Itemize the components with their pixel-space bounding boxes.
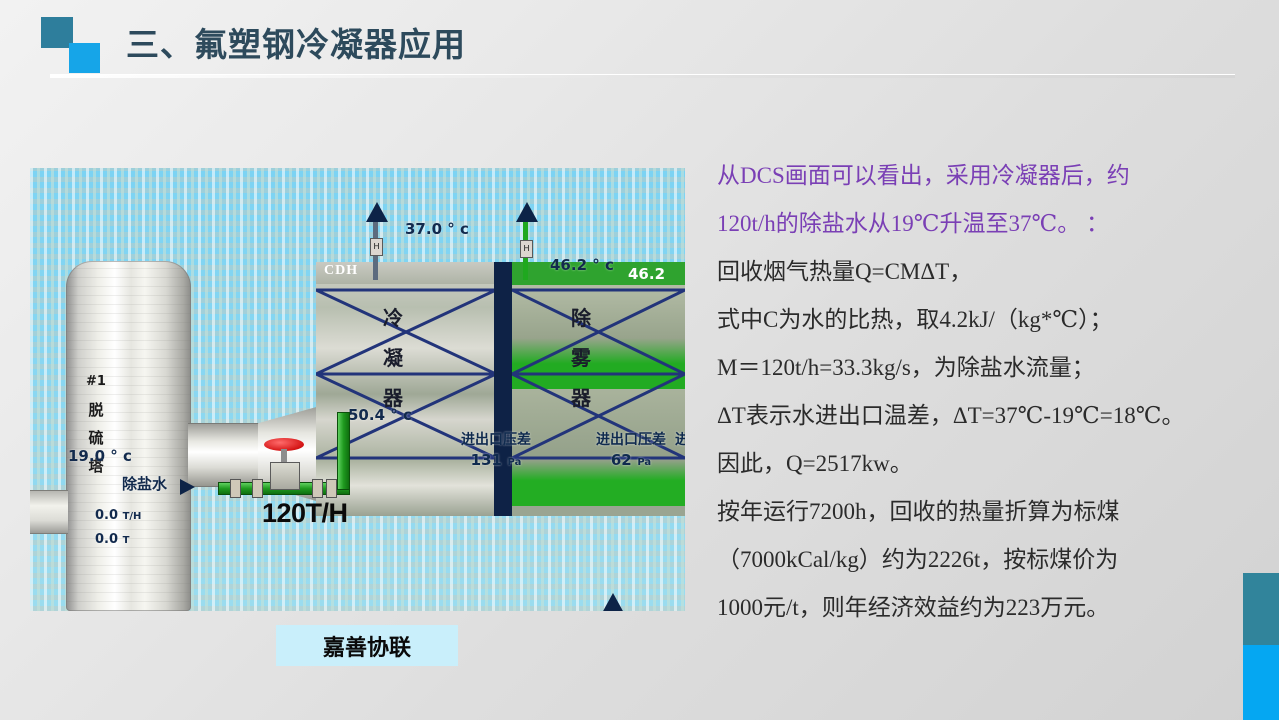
pressure-label-1: 进出口压差 131 Pa	[461, 432, 531, 470]
pressure-1-value: 131	[471, 451, 502, 469]
pressure-2-unit: Pa	[637, 457, 651, 468]
demister-gauge-icon: H	[520, 240, 533, 258]
pipe-flange-right	[326, 479, 337, 498]
tower-name-char-1: 脱	[76, 396, 116, 424]
feed-water-pipe-vertical	[337, 412, 350, 490]
page-title: 三、氟塑钢冷凝器应用	[126, 18, 466, 66]
demister-section: 除 雾 器	[512, 262, 685, 516]
body-text-line-4: 式中C为水的比热，取4.2kJ/（kg*℃）；	[717, 299, 1227, 340]
pressure-1-unit: Pa	[508, 457, 522, 468]
pressure-label-2: 进出口压差 62 Pa	[596, 432, 666, 470]
feed-water-label: 除盐水	[122, 473, 167, 494]
bottom-flow-arrow-icon	[602, 593, 624, 611]
condenser-label-char-1: 冷	[376, 298, 410, 338]
water-flow-value: 0.0	[95, 508, 118, 523]
reading-demister-outlet-temp: 46.2 ° c	[550, 256, 614, 274]
reading-demister-band-temp: 46.2	[628, 265, 665, 283]
reading-flue-inlet-temp: 50.4 ° c	[348, 406, 412, 424]
feed-water-arrow-icon	[180, 479, 195, 495]
slide-header: 三、氟塑钢冷凝器应用	[0, 0, 1279, 88]
right-accent-bar	[1243, 573, 1279, 720]
body-text-line-6: ΔT表示水进出口温差，ΔT=37℃-19℃=18℃。	[717, 395, 1227, 436]
pressure-1-title: 进出口压差	[461, 432, 531, 450]
pressure-2-reading: 62 Pa	[596, 450, 666, 470]
caption-text: 嘉善协联	[323, 630, 411, 662]
demister-label-char-3: 器	[564, 378, 598, 418]
condenser-gauge-icon: H	[370, 238, 383, 256]
tower-side-duct	[30, 490, 68, 534]
body-text-line-3: 回收烟气热量Q=CMΔT，	[717, 251, 1227, 292]
body-text-line-9: （7000kCal/kg）约为2226t，按标煤价为	[717, 539, 1227, 580]
design-flow-annotation: 120T/H	[262, 498, 348, 529]
demister-label-char-2: 雾	[564, 338, 598, 378]
reading-water-total: 0.0 T	[95, 532, 129, 547]
control-valve-icon	[262, 438, 306, 488]
pressure-3-title: 进	[675, 432, 685, 450]
accent-bar-bottom	[1243, 645, 1279, 720]
condenser-demister-assembly: CDH 冷 凝 器	[316, 262, 685, 516]
body-text-line-5: M＝120t/h=33.3kg/s，为除盐水流量；	[717, 347, 1227, 388]
dcs-screenshot-image: #1 脱 硫 塔 CDH 冷	[30, 168, 685, 611]
body-text-line-10: 1000元/t，则年经济效益约为223万元。	[717, 587, 1227, 628]
valve-body-icon	[270, 462, 300, 490]
body-text-line-7: 因此，Q=2517kw。	[717, 443, 1227, 484]
water-flow-unit: T/H	[123, 511, 142, 522]
header-divider	[50, 74, 1235, 78]
body-text-block: 从DCS画面可以看出，采用冷凝器后，约120t/h的除盐水从19℃升温至37℃。…	[717, 155, 1227, 635]
reading-water-flow-rate: 0.0 T/H	[95, 508, 141, 523]
water-total-value: 0.0	[95, 532, 118, 547]
body-text-line-2: 120t/h的除盐水从19℃升温至37℃。 ：	[717, 203, 1227, 244]
pipe-flange-mid-right	[312, 479, 323, 498]
logo-mark	[41, 17, 113, 71]
demister-label: 除 雾 器	[564, 298, 598, 418]
water-total-unit: T	[123, 535, 130, 546]
image-caption: 嘉善协联	[276, 625, 458, 666]
center-pillar	[494, 262, 512, 516]
demister-brace-icon	[512, 262, 685, 516]
accent-bar-top	[1243, 573, 1279, 645]
condenser-label-char-2: 凝	[376, 338, 410, 378]
reading-water-inlet-temp: 19.0 ° c	[68, 447, 132, 465]
logo-square-bright-icon	[69, 43, 100, 73]
reading-condenser-outlet-temp: 37.0 ° c	[405, 220, 469, 238]
body-text-line-1: 从DCS画面可以看出，采用冷凝器后，约	[717, 155, 1227, 196]
demister-outlet-arrow-icon	[516, 202, 538, 222]
tower-id: #1	[76, 368, 116, 396]
connecting-duct	[188, 423, 260, 487]
cdh-tag: CDH	[324, 263, 358, 279]
pipe-flange-left	[230, 479, 241, 498]
pressure-1-reading: 131 Pa	[461, 450, 531, 470]
body-text-line-8: 按年运行7200h，回收的热量折算为标煤	[717, 491, 1227, 532]
condenser-label: 冷 凝 器	[376, 298, 410, 418]
pressure-2-title: 进出口压差	[596, 432, 666, 450]
demister-label-char-1: 除	[564, 298, 598, 338]
pressure-2-value: 62	[611, 451, 632, 469]
pressure-label-3-partial: 进	[675, 432, 685, 450]
condenser-outlet-arrow-icon	[366, 202, 388, 222]
condenser-top-cap: CDH	[316, 262, 496, 284]
